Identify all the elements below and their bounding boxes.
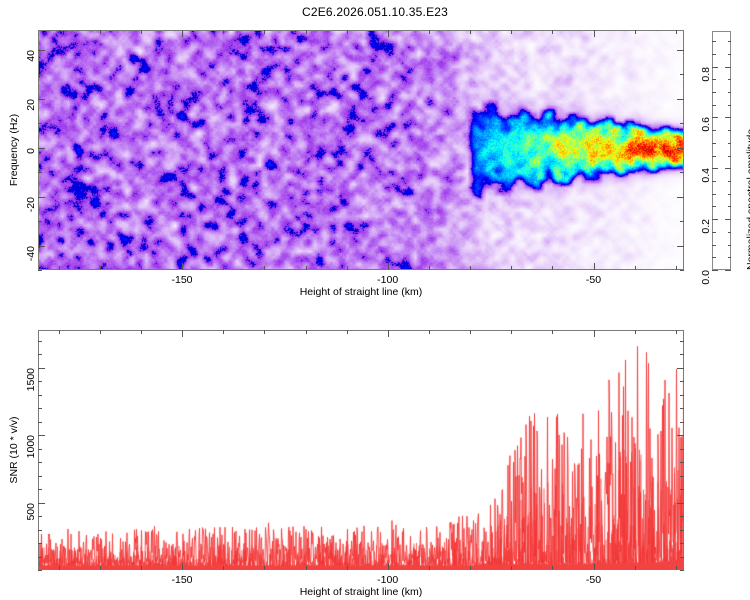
snr-panel xyxy=(38,330,684,570)
y-tick xyxy=(38,503,45,504)
x-tick xyxy=(223,566,224,570)
spectrogram-panel xyxy=(38,30,684,270)
x-tick xyxy=(429,330,430,334)
y-tick xyxy=(38,530,42,531)
y-tick xyxy=(677,99,684,100)
x-tick xyxy=(59,566,60,570)
x-tick xyxy=(388,330,389,337)
x-tick xyxy=(429,266,430,270)
x-tick xyxy=(223,30,224,34)
y-tick xyxy=(38,368,45,369)
y-tick xyxy=(38,74,42,75)
y-tick xyxy=(38,221,42,222)
colorbar-tick xyxy=(712,219,718,220)
x-tick xyxy=(388,30,389,37)
colorbar-tick xyxy=(725,270,731,271)
y-tick xyxy=(680,462,684,463)
y-tick xyxy=(677,50,684,51)
colorbar-tick xyxy=(712,257,716,258)
x-tick xyxy=(182,330,183,337)
x-tick xyxy=(264,566,265,570)
colorbar-tick-label: 0.0 xyxy=(700,270,712,285)
x-tick xyxy=(347,330,348,334)
y-tick xyxy=(677,148,684,149)
colorbar-tick xyxy=(728,41,732,42)
y-tick-label: 0 xyxy=(25,148,37,154)
x-tick xyxy=(429,30,430,34)
y-tick xyxy=(38,395,42,396)
spectrogram-y-axis-label: Frequency (Hz) xyxy=(8,114,20,186)
y-tick xyxy=(38,422,42,423)
colorbar-tick xyxy=(725,168,731,169)
x-tick-label: -50 xyxy=(564,274,624,286)
colorbar-tick xyxy=(712,245,716,246)
colorbar-tick xyxy=(728,245,732,246)
y-tick-label: 500 xyxy=(25,503,37,521)
x-tick xyxy=(306,330,307,334)
y-tick xyxy=(680,422,684,423)
y-tick xyxy=(680,449,684,450)
x-tick-label: -100 xyxy=(358,274,418,286)
y-tick xyxy=(680,395,684,396)
x-tick-label: -150 xyxy=(152,574,212,586)
y-tick xyxy=(680,530,684,531)
y-tick xyxy=(680,221,684,222)
y-tick-label: 40 xyxy=(25,50,37,62)
y-tick xyxy=(38,516,42,517)
colorbar-tick xyxy=(712,232,716,233)
y-tick xyxy=(38,570,42,571)
colorbar-tick xyxy=(728,257,732,258)
x-tick xyxy=(470,330,471,334)
x-tick xyxy=(429,566,430,570)
y-tick xyxy=(38,408,42,409)
x-tick xyxy=(347,566,348,570)
x-tick xyxy=(594,30,595,37)
x-tick xyxy=(100,330,101,334)
y-tick xyxy=(680,557,684,558)
x-tick xyxy=(635,330,636,334)
x-tick-label: -50 xyxy=(564,574,624,586)
colorbar-tick xyxy=(712,79,716,80)
y-tick xyxy=(677,435,684,436)
x-tick xyxy=(676,566,677,570)
y-tick-label: -20 xyxy=(25,197,37,212)
x-tick xyxy=(347,266,348,270)
colorbar-tick xyxy=(728,156,732,157)
y-tick xyxy=(38,489,42,490)
colorbar-label: Normalized spectral amplitude xyxy=(745,129,750,270)
y-tick xyxy=(38,172,42,173)
y-tick xyxy=(680,516,684,517)
colorbar-tick-label: 0.8 xyxy=(700,67,712,82)
y-tick xyxy=(677,246,684,247)
x-tick xyxy=(223,266,224,270)
x-tick xyxy=(306,30,307,34)
colorbar-tick xyxy=(712,270,718,271)
spectrogram-x-axis-label: Height of straight line (km) xyxy=(38,286,684,298)
colorbar-tick xyxy=(712,143,716,144)
x-tick xyxy=(594,330,595,337)
y-tick xyxy=(38,462,42,463)
x-tick xyxy=(264,266,265,270)
x-tick xyxy=(552,330,553,334)
x-tick xyxy=(141,330,142,334)
x-tick xyxy=(141,566,142,570)
x-tick xyxy=(635,30,636,34)
y-tick-label: 20 xyxy=(25,99,37,111)
y-tick xyxy=(38,197,45,198)
y-tick xyxy=(677,197,684,198)
y-tick xyxy=(680,476,684,477)
x-tick xyxy=(594,263,595,270)
y-tick xyxy=(680,381,684,382)
x-tick xyxy=(676,30,677,34)
x-tick xyxy=(676,330,677,334)
colorbar-tick-label: 0.2 xyxy=(700,219,712,234)
x-tick xyxy=(388,563,389,570)
x-tick xyxy=(223,330,224,334)
x-tick xyxy=(306,566,307,570)
x-tick xyxy=(100,30,101,34)
x-tick xyxy=(264,30,265,34)
y-tick xyxy=(38,270,42,271)
x-tick xyxy=(141,266,142,270)
colorbar-tick-label: 0.4 xyxy=(700,168,712,183)
snr-x-axis-label: Height of straight line (km) xyxy=(38,586,684,598)
x-tick xyxy=(264,330,265,334)
x-tick-label: -100 xyxy=(358,574,418,586)
x-tick xyxy=(182,563,183,570)
colorbar-tick xyxy=(728,194,732,195)
colorbar-tick xyxy=(728,206,732,207)
colorbar-tick xyxy=(712,54,716,55)
colorbar-tick xyxy=(728,181,732,182)
y-tick xyxy=(680,489,684,490)
x-tick xyxy=(59,330,60,334)
y-tick xyxy=(38,543,42,544)
y-tick-label: 1000 xyxy=(25,435,37,458)
figure-canvas: C2E6.2026.051.10.35.E23 -150-100-5040200… xyxy=(0,0,750,600)
snr-trace xyxy=(39,331,684,570)
y-tick-label: 1500 xyxy=(25,368,37,391)
colorbar-tick xyxy=(728,54,732,55)
y-tick xyxy=(680,270,684,271)
x-tick xyxy=(59,30,60,34)
y-tick xyxy=(38,341,42,342)
colorbar-tick xyxy=(725,67,731,68)
y-tick xyxy=(680,172,684,173)
colorbar-tick xyxy=(728,232,732,233)
y-tick xyxy=(38,557,42,558)
y-tick xyxy=(38,476,42,477)
colorbar-tick xyxy=(712,181,716,182)
y-tick xyxy=(680,543,684,544)
colorbar-tick xyxy=(728,143,732,144)
colorbar-tick xyxy=(725,219,731,220)
snr-y-axis-label: SNR (10 * v/v) xyxy=(8,416,20,483)
y-tick xyxy=(38,354,42,355)
x-tick xyxy=(552,566,553,570)
x-tick xyxy=(182,30,183,37)
x-tick xyxy=(635,266,636,270)
y-tick xyxy=(38,381,42,382)
x-tick xyxy=(470,266,471,270)
x-tick xyxy=(511,566,512,570)
x-tick xyxy=(182,263,183,270)
x-tick xyxy=(635,566,636,570)
x-tick xyxy=(552,30,553,34)
x-tick xyxy=(306,266,307,270)
y-tick xyxy=(680,341,684,342)
y-tick xyxy=(680,123,684,124)
colorbar-tick xyxy=(728,92,732,93)
colorbar-tick xyxy=(712,41,716,42)
y-tick xyxy=(38,99,45,100)
y-tick xyxy=(680,570,684,571)
y-tick xyxy=(38,246,45,247)
colorbar-tick xyxy=(712,117,718,118)
x-tick xyxy=(511,330,512,334)
x-tick xyxy=(100,266,101,270)
y-tick xyxy=(680,74,684,75)
y-tick xyxy=(38,50,45,51)
colorbar-tick xyxy=(712,67,718,68)
y-tick xyxy=(38,123,42,124)
x-tick xyxy=(100,566,101,570)
y-tick xyxy=(677,503,684,504)
colorbar-tick xyxy=(712,156,716,157)
spectrogram-image xyxy=(39,31,684,270)
x-tick xyxy=(470,566,471,570)
colorbar-tick xyxy=(728,79,732,80)
figure-title: C2E6.2026.051.10.35.E23 xyxy=(0,5,750,19)
colorbar-tick xyxy=(728,105,732,106)
y-tick xyxy=(38,148,45,149)
x-tick xyxy=(511,30,512,34)
colorbar-tick xyxy=(712,105,716,106)
colorbar-tick-label: 0.6 xyxy=(700,117,712,132)
colorbar-tick xyxy=(728,130,732,131)
x-tick xyxy=(676,266,677,270)
colorbar-tick xyxy=(712,92,716,93)
y-tick xyxy=(38,449,42,450)
x-tick xyxy=(59,266,60,270)
x-tick xyxy=(347,30,348,34)
colorbar-tick xyxy=(712,194,716,195)
colorbar-tick xyxy=(712,206,716,207)
x-tick xyxy=(470,30,471,34)
y-tick xyxy=(680,354,684,355)
y-tick xyxy=(38,435,45,436)
x-tick xyxy=(511,266,512,270)
x-tick xyxy=(594,563,595,570)
y-tick-label: -40 xyxy=(25,246,37,261)
colorbar-tick xyxy=(725,117,731,118)
x-tick xyxy=(141,30,142,34)
colorbar-tick xyxy=(712,130,716,131)
y-tick xyxy=(680,408,684,409)
y-tick xyxy=(677,368,684,369)
colorbar-tick xyxy=(712,168,718,169)
x-tick xyxy=(388,263,389,270)
x-tick-label: -150 xyxy=(152,274,212,286)
x-tick xyxy=(552,266,553,270)
